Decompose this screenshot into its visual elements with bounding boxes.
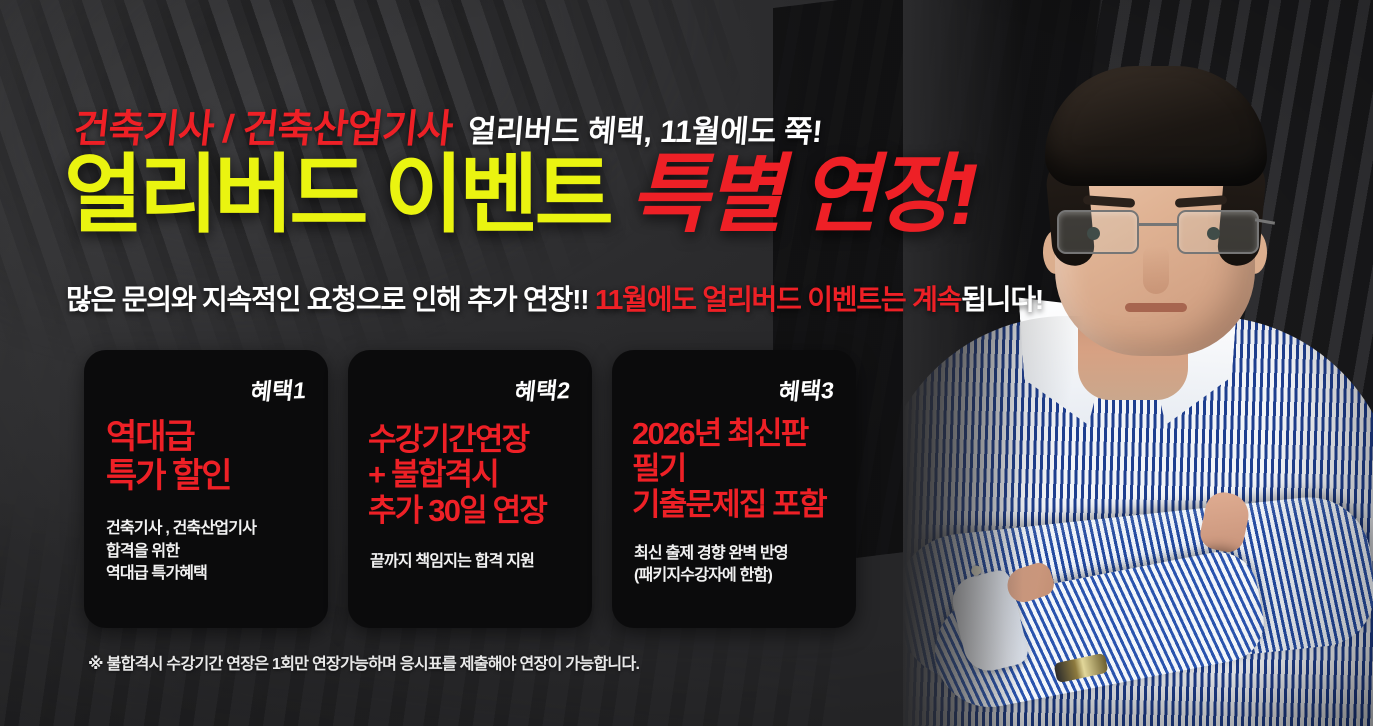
headline-primary: 얼리버드 이벤트 xyxy=(64,147,610,243)
benefit-title-line: 추가 30일 연장 xyxy=(368,493,546,528)
eyebrow-row: 건축기사 / 건축산업기사 얼리버드 혜택, 11월에도 쭉! xyxy=(74,98,823,154)
benefit-description: 건축기사 , 건축산업기사 합격을 위한 역대급 특가혜택 xyxy=(106,518,256,586)
benefit-title-line: 기출문제집 포함 xyxy=(632,487,826,522)
page-title: 얼리버드 이벤트 특별 연장! xyxy=(64,152,975,238)
footnote: ※ 불합격시 수강기간 연장은 1회만 연장가능하며 응시표를 제출해야 연장이… xyxy=(88,650,639,674)
subtitle-highlight: 11월에도 얼리버드 이벤트는 계속 xyxy=(595,284,961,315)
subtitle: 많은 문의와 지속적인 요청으로 인해 추가 연장!! 11월에도 얼리버드 이… xyxy=(66,278,1043,318)
benefit-badge: 혜택2 xyxy=(513,371,572,407)
benefit-desc-line: 최신 출제 경향 완벽 반영 xyxy=(634,543,788,566)
benefit-card-2[interactable]: 혜택2 수강기간연장 + 불합격시 추가 30일 연장 끝까지 책임지는 합격 … xyxy=(348,350,592,628)
benefit-badge: 혜택1 xyxy=(249,371,308,407)
benefit-desc-line: 역대급 특가혜택 xyxy=(106,563,256,586)
benefit-card-1[interactable]: 혜택1 역대급 특가 할인 건축기사 , 건축산업기사 합격을 위한 역대급 특… xyxy=(84,350,328,628)
benefit-desc-line: (패키지수강자에 한함) xyxy=(634,565,788,588)
benefit-desc-line: 합격을 위한 xyxy=(106,541,256,564)
subtitle-tail: 됩니다! xyxy=(961,284,1043,315)
benefit-title: 2026년 최신판 필기 기출문제집 포함 xyxy=(632,416,826,522)
tagline-label: 얼리버드 혜택, 11월에도 쭉! xyxy=(466,106,824,151)
banner-content: 건축기사 / 건축산업기사 얼리버드 혜택, 11월에도 쭉! 얼리버드 이벤트… xyxy=(0,0,1373,726)
benefit-title-line: 특가 할인 xyxy=(106,457,231,496)
benefit-badge: 혜택3 xyxy=(777,371,836,407)
benefit-description: 끝까지 책임지는 합격 지원 xyxy=(370,551,534,574)
benefit-title-line: 필기 xyxy=(632,451,826,486)
benefit-desc-line: 건축기사 , 건축산업기사 xyxy=(106,518,256,541)
benefit-cards: 혜택1 역대급 특가 할인 건축기사 , 건축산업기사 합격을 위한 역대급 특… xyxy=(84,350,856,628)
certification-label: 건축기사 / 건축산업기사 xyxy=(71,98,455,154)
benefit-title: 역대급 특가 할인 xyxy=(106,418,231,496)
headline-emphasis: 특별 연장! xyxy=(630,147,975,243)
benefit-description: 최신 출제 경향 완벽 반영 (패키지수강자에 한함) xyxy=(634,543,788,588)
benefit-desc-line: 끝까지 책임지는 합격 지원 xyxy=(370,551,534,574)
benefit-title-line: 2026년 최신판 xyxy=(632,416,826,451)
benefit-title-line: + 불합격시 xyxy=(368,457,546,492)
benefit-title-line: 역대급 xyxy=(106,418,231,457)
benefit-card-3[interactable]: 혜택3 2026년 최신판 필기 기출문제집 포함 최신 출제 경향 완벽 반영… xyxy=(612,350,856,628)
benefit-title-line: 수강기간연장 xyxy=(368,422,546,457)
promo-banner: 건축기사 / 건축산업기사 얼리버드 혜택, 11월에도 쭉! 얼리버드 이벤트… xyxy=(0,0,1373,726)
benefit-title: 수강기간연장 + 불합격시 추가 30일 연장 xyxy=(368,422,546,528)
subtitle-lead: 많은 문의와 지속적인 요청으로 인해 추가 연장!! xyxy=(66,284,588,315)
